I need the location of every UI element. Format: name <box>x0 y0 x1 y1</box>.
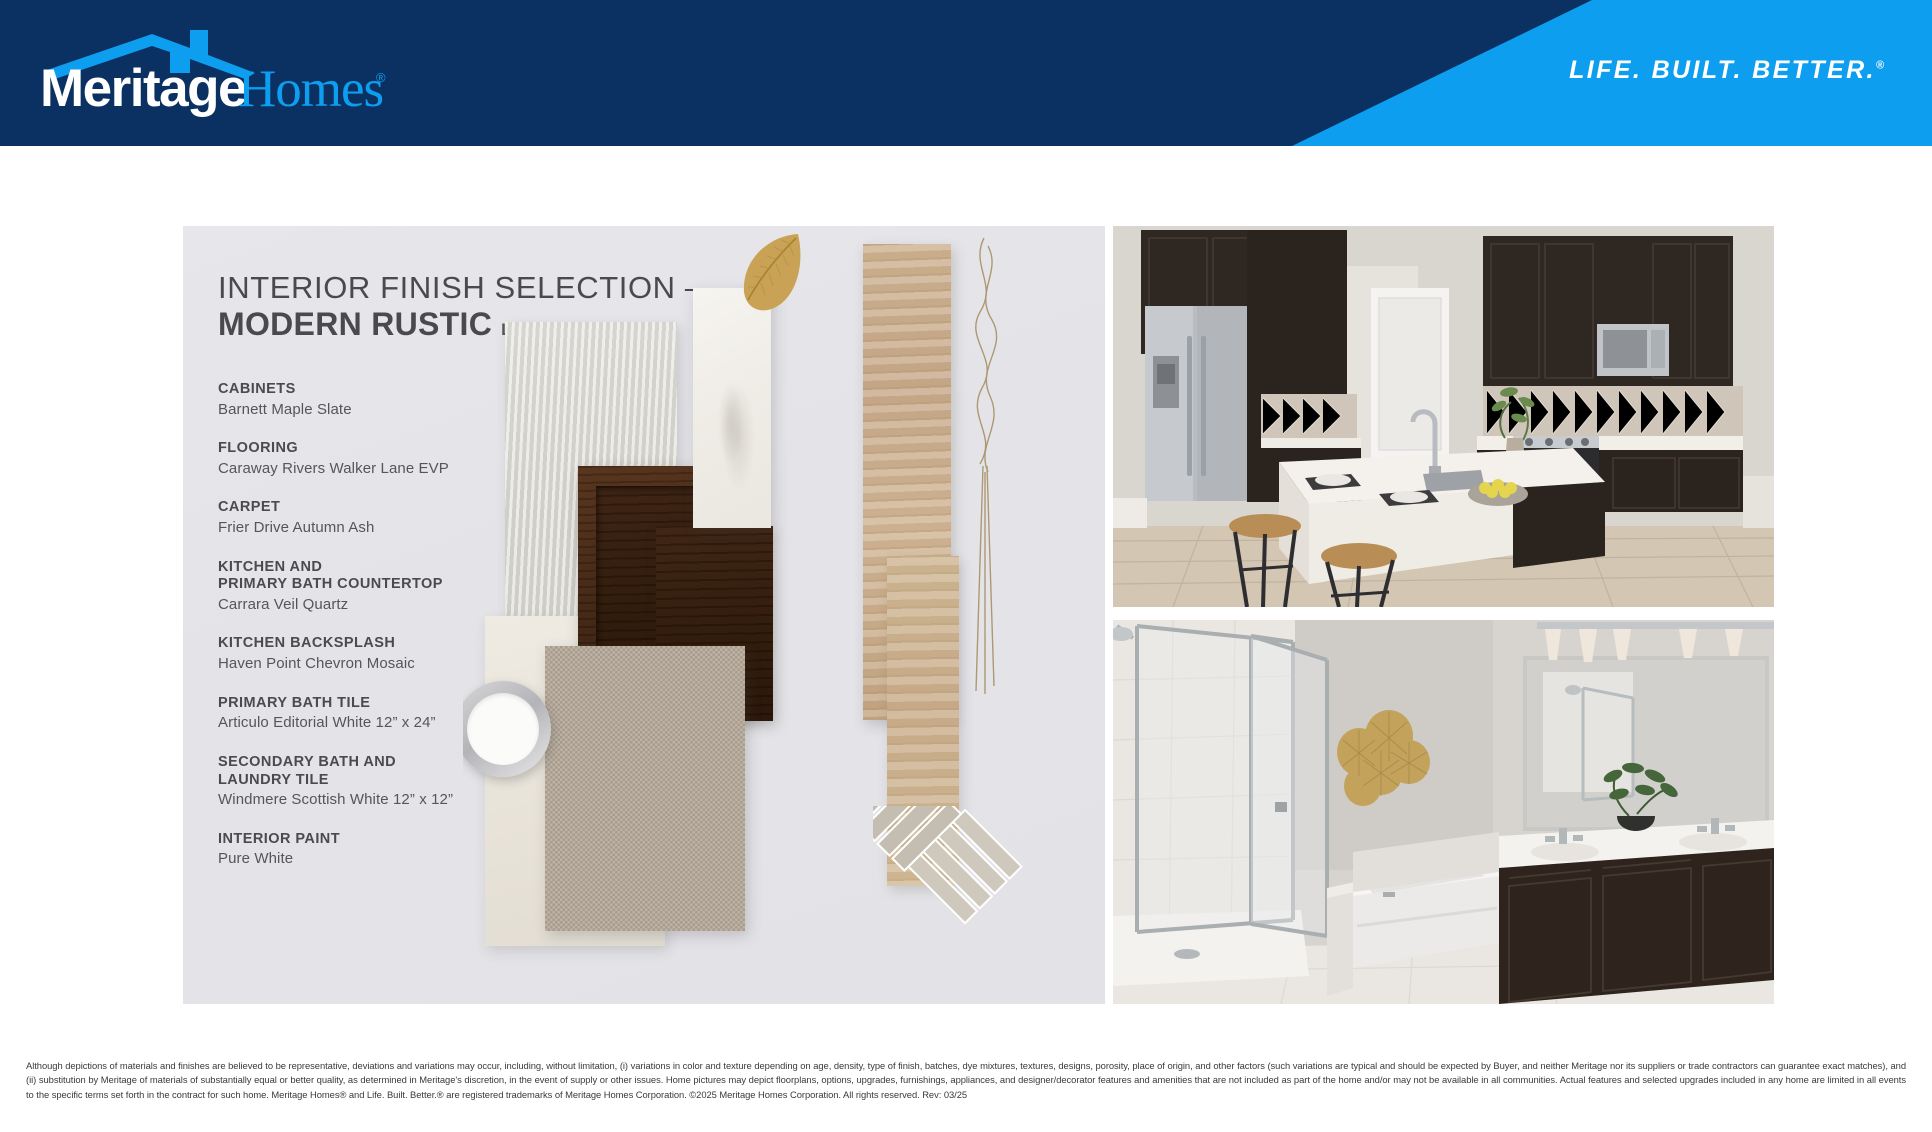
brand-tagline-text: LIFE. BUILT. BETTER. <box>1569 56 1876 84</box>
svg-text:®: ® <box>376 70 386 85</box>
header-divider <box>0 146 1932 150</box>
kitchen-photo-illustration <box>1113 226 1774 607</box>
meritage-homes-logo[interactable]: Meritage Homes ® <box>40 26 440 118</box>
page-header: Meritage Homes ® LIFE. BUILT. BETTER.® <box>0 0 1932 146</box>
svg-text:Meritage: Meritage <box>40 59 246 118</box>
primary-bath-photo-illustration <box>1113 620 1774 1004</box>
brand-tagline: LIFE. BUILT. BETTER.® <box>1569 56 1884 85</box>
disclaimer-text: Although depictions of materials and fin… <box>26 1059 1906 1102</box>
selection-name: MODERN RUSTIC <box>218 306 492 342</box>
svg-text:Homes: Homes <box>238 60 383 118</box>
primary-bath-photo <box>1113 620 1774 1004</box>
gold-leaf-accent <box>738 230 808 314</box>
brand-tagline-registered-mark: ® <box>1876 60 1884 72</box>
chevron-mosaic-tile <box>873 806 1063 986</box>
legal-disclaimer: Although depictions of materials and fin… <box>26 1059 1906 1102</box>
carrara-veil-quartz-slab <box>693 288 771 528</box>
autumn-ash-carpet-swatch <box>545 646 745 931</box>
material-flatlay-collage <box>463 226 1105 1004</box>
gold-wire-decor <box>958 236 1008 696</box>
finish-selection-board: INTERIOR FINISH SELECTION – MODERN RUSTI… <box>183 226 1105 1004</box>
kitchen-photo <box>1113 226 1774 607</box>
